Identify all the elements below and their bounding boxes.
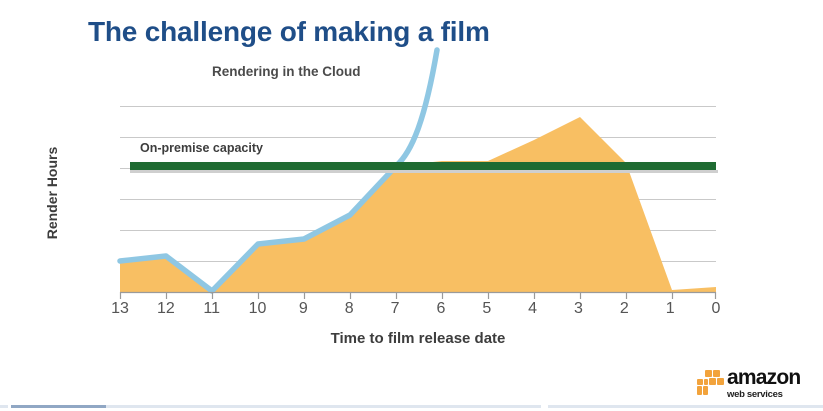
- scrollbar-thumb[interactable]: [11, 405, 106, 408]
- x-tick-label: 13: [100, 300, 140, 318]
- aws-wordmark: amazon web services: [727, 368, 797, 400]
- scrollbar-track-right[interactable]: [548, 405, 823, 408]
- x-tick-label: 12: [146, 300, 186, 318]
- x-tick-label: 6: [421, 300, 461, 318]
- x-tick-label: 5: [467, 300, 507, 318]
- x-tick-label: 4: [513, 300, 553, 318]
- x-tick-label: 7: [375, 300, 415, 318]
- chart-plot-area: [0, 0, 823, 411]
- x-tick-label: 2: [604, 300, 644, 318]
- x-tick-label: 9: [283, 300, 323, 318]
- x-axis-tick-labels: 131211109876543210: [0, 300, 823, 324]
- x-tick-label: 3: [558, 300, 598, 318]
- render-hours-chart: Rendering in the Cloud Render Hours: [0, 0, 823, 411]
- slide-canvas: The challenge of making a film Rendering…: [0, 0, 823, 411]
- horizontal-scrollbar[interactable]: [0, 403, 823, 411]
- amazon-web-services-logo: amazon web services: [697, 368, 797, 402]
- onprem-capacity-annotation: On-premise capacity: [140, 141, 263, 155]
- x-tick-label: 8: [329, 300, 369, 318]
- x-axis-label: Time to film release date: [120, 330, 716, 347]
- scrollbar-track-mid[interactable]: [106, 405, 541, 408]
- aws-boxes-icon: [697, 370, 727, 396]
- x-tick-label: 10: [238, 300, 278, 318]
- x-tick-label: 11: [192, 300, 232, 318]
- aws-wordmark-primary: amazon: [727, 368, 797, 388]
- x-tick-label: 1: [650, 300, 690, 318]
- x-tick-label: 0: [696, 300, 736, 318]
- aws-wordmark-secondary: web services: [727, 389, 797, 400]
- scrollbar-track-left[interactable]: [0, 405, 8, 408]
